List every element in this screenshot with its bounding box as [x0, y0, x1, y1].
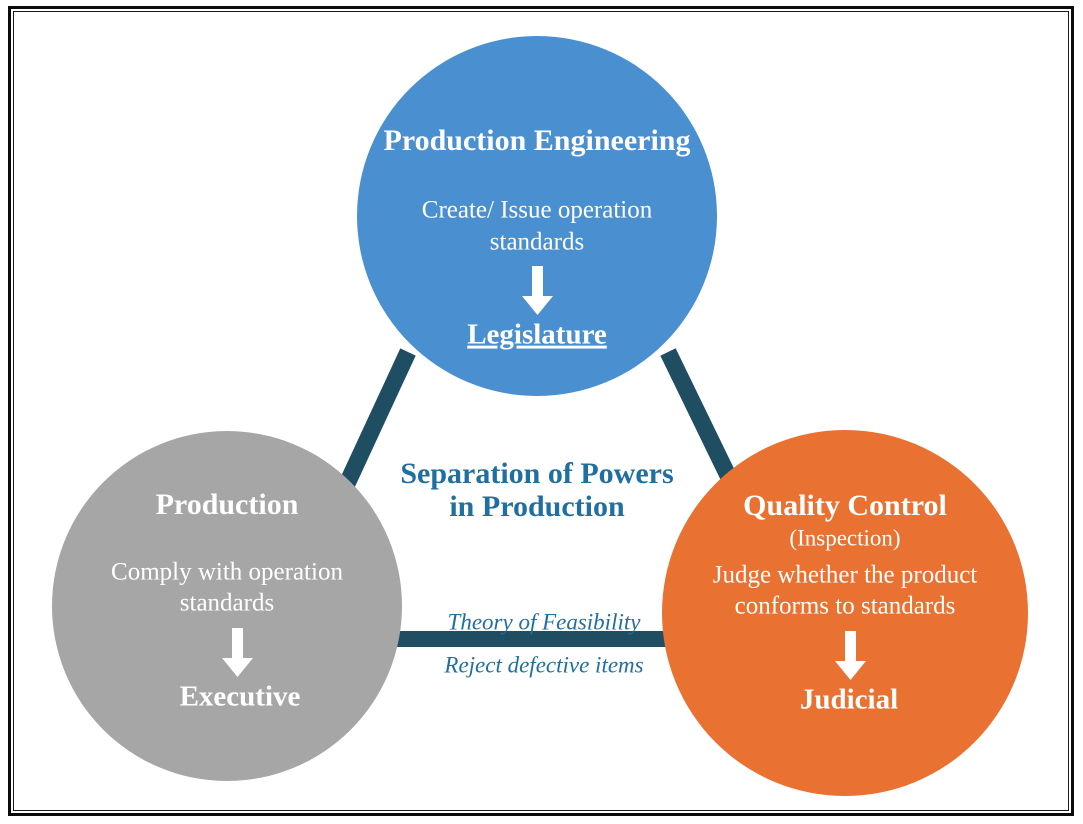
- diagram-frame: Production Engineering Create/ Issue ope…: [0, 0, 1083, 824]
- frame-border-inner: [13, 11, 1069, 811]
